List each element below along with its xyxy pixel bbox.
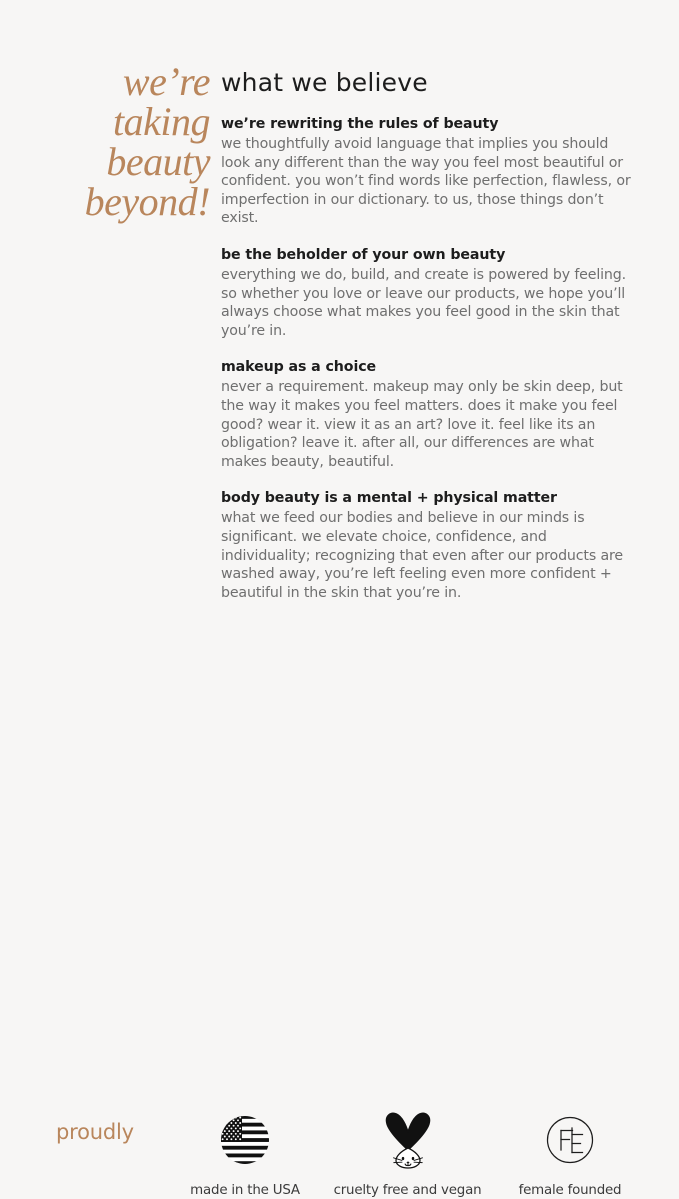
badge-label: cruelty free and vegan — [325, 1182, 490, 1199]
badge-label: made in the USA — [175, 1182, 315, 1199]
badge-cruelty-free: cruelty free and vegan — [325, 1110, 490, 1199]
believe-column: what we believe we’re rewriting the rule… — [221, 68, 631, 602]
badge-female-founded: female founded — [500, 1110, 640, 1199]
belief-heading: makeup as a choice — [221, 358, 631, 377]
page-title: what we believe — [221, 68, 631, 98]
badge-made-in-usa: made in the USA — [175, 1110, 315, 1199]
usa-flag-circle-icon — [175, 1110, 315, 1170]
poster-page: we’re taking beauty beyond! what we beli… — [0, 0, 679, 679]
proudly-label: proudly — [56, 1119, 134, 1145]
brand-tagline: we’re taking beauty beyond! — [22, 62, 210, 222]
bunny-heart-ears-icon — [325, 1110, 490, 1170]
ff-monogram-circle-icon — [500, 1110, 640, 1170]
trust-badges-strip: proudly — [0, 545, 679, 679]
tagline-line-3: beauty — [22, 142, 210, 182]
badge-label: female founded — [500, 1182, 640, 1199]
content-area: we’re taking beauty beyond! what we beli… — [0, 0, 679, 545]
tagline-line-1: we’re — [22, 62, 210, 102]
belief-body: never a requirement. makeup may only be … — [221, 378, 631, 471]
belief-item: be the beholder of your own beauty every… — [221, 246, 631, 340]
belief-heading: we’re rewriting the rules of beauty — [221, 115, 631, 134]
belief-heading: body beauty is a mental + physical matte… — [221, 489, 631, 508]
belief-item: makeup as a choice never a requirement. … — [221, 358, 631, 471]
belief-heading: be the beholder of your own beauty — [221, 246, 631, 265]
belief-item: we’re rewriting the rules of beauty we t… — [221, 115, 631, 228]
belief-body: everything we do, build, and create is p… — [221, 266, 631, 340]
belief-body: we thoughtfully avoid language that impl… — [221, 135, 631, 228]
tagline-line-2: taking — [22, 102, 210, 142]
tagline-line-4: beyond! — [22, 182, 210, 222]
